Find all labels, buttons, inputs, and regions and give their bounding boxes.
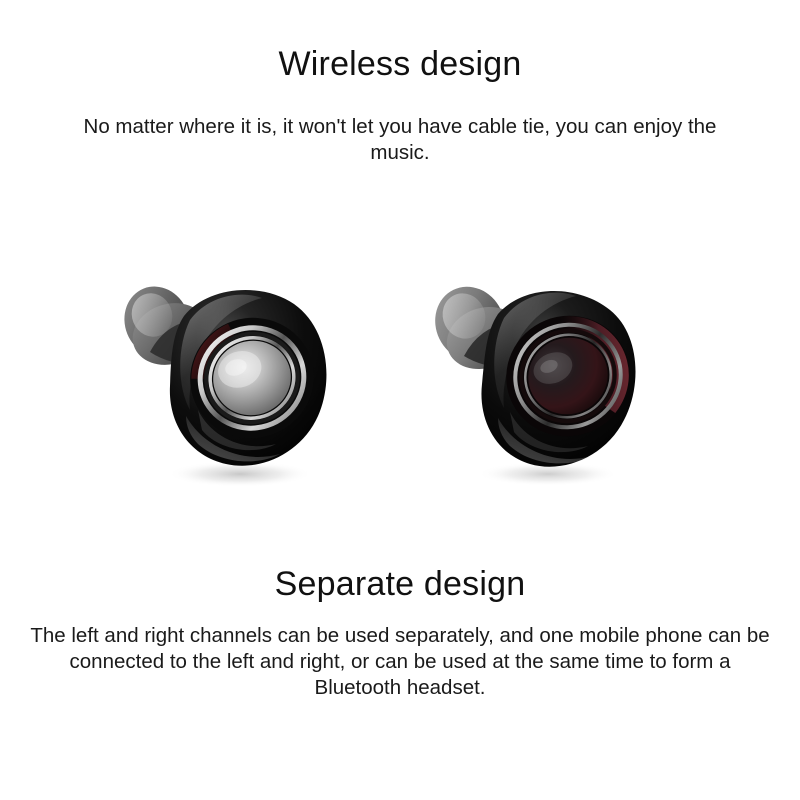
section-body-separate: The left and right channels can be used … [30, 623, 770, 702]
section-heading-wireless: Wireless design [0, 46, 800, 83]
left-earbud [112, 260, 342, 490]
earbuds-product-photo [0, 250, 800, 490]
section-body-wireless: No matter where it is, it won't let you … [52, 114, 748, 166]
section-heading-separate: Separate design [0, 566, 800, 603]
product-marketing-page: Wireless design No matter where it is, i… [0, 0, 800, 800]
right-earbud [422, 260, 652, 490]
